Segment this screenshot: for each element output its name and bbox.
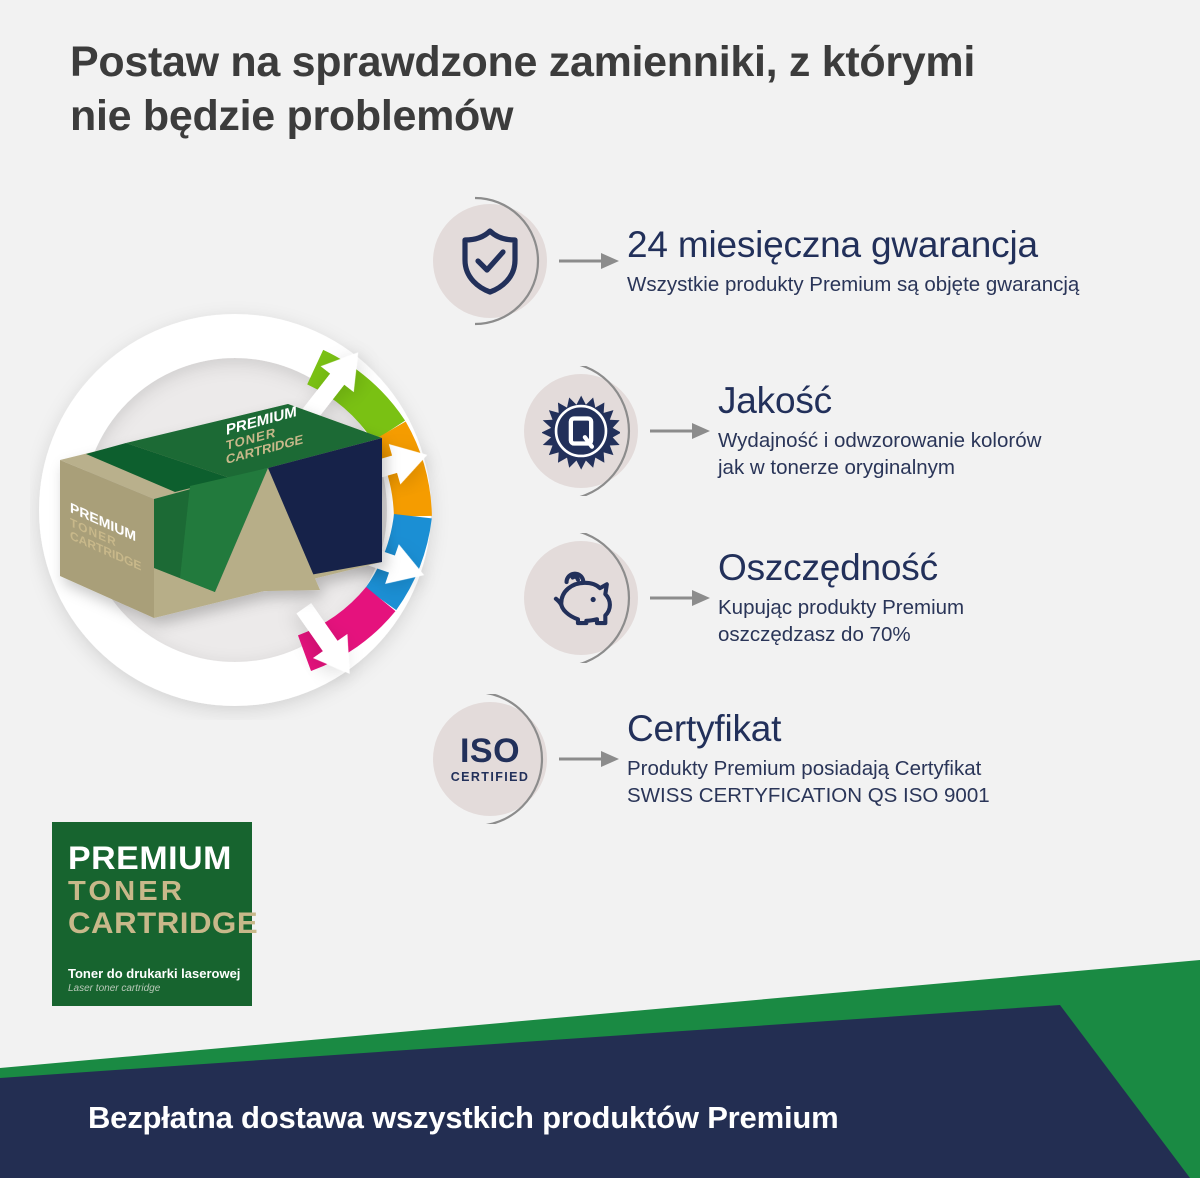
logo-toner-label: TONER bbox=[68, 875, 185, 907]
icon-disc: ISO CERTIFIED bbox=[433, 702, 547, 816]
logo-premium-label: PREMIUM bbox=[68, 840, 232, 877]
ring-svg: PREMIUM TONER CARTRIDGE PREMIUM TONER CA… bbox=[30, 300, 450, 720]
icon-disc bbox=[524, 374, 638, 488]
feature-certificate: ISO CERTIFIED Certyfikat Produkty Premiu… bbox=[425, 694, 990, 824]
right-arrow-icon bbox=[650, 586, 712, 610]
connector-arrow bbox=[650, 419, 712, 443]
feature-title: 24 miesięczna gwarancja bbox=[627, 224, 1079, 267]
feature-desc: Wszystkie produkty Premium są objęte gwa… bbox=[627, 271, 1079, 298]
footer-message: Bezpłatna dostawa wszystkich produktów P… bbox=[88, 1100, 838, 1136]
savings-icon-wrap bbox=[516, 533, 646, 663]
feature-text: Certyfikat Produkty Premium posiadają Ce… bbox=[627, 708, 990, 809]
connector-arrow bbox=[559, 747, 621, 771]
feature-text: Oszczędność Kupując produkty Premium osz… bbox=[718, 547, 964, 648]
piggy-bank-icon bbox=[543, 562, 619, 634]
feature-desc: Produkty Premium posiadają Certyfikat SW… bbox=[627, 755, 990, 810]
feature-title: Jakość bbox=[718, 380, 1041, 423]
product-ring-graphic: PREMIUM TONER CARTRIDGE PREMIUM TONER CA… bbox=[30, 300, 450, 720]
icon-disc bbox=[433, 204, 547, 318]
footer-bands bbox=[0, 960, 1200, 1178]
feature-title: Oszczędność bbox=[718, 547, 964, 590]
iso-label: ISO bbox=[451, 734, 530, 768]
iso-certified-icon: ISO CERTIFIED bbox=[451, 734, 530, 784]
page-title: Postaw na sprawdzone zamienniki, z który… bbox=[70, 36, 1130, 144]
warranty-icon-wrap bbox=[425, 196, 555, 326]
connector-arrow bbox=[650, 586, 712, 610]
icon-disc bbox=[524, 541, 638, 655]
right-arrow-icon bbox=[559, 747, 621, 771]
feature-savings: Oszczędność Kupując produkty Premium osz… bbox=[516, 533, 964, 663]
feature-desc: Wydajność i odwzorowanie kolorów jak w t… bbox=[718, 427, 1041, 482]
right-arrow-icon bbox=[559, 249, 621, 273]
quality-starburst-icon bbox=[542, 392, 620, 470]
feature-title: Certyfikat bbox=[627, 708, 990, 751]
feature-warranty: 24 miesięczna gwarancja Wszystkie produk… bbox=[425, 196, 1079, 326]
connector-arrow bbox=[559, 249, 621, 273]
feature-text: Jakość Wydajność i odwzorowanie kolorów … bbox=[718, 380, 1041, 481]
right-arrow-icon bbox=[650, 419, 712, 443]
footer-bands-svg bbox=[0, 960, 1200, 1178]
feature-text: 24 miesięczna gwarancja Wszystkie produk… bbox=[627, 224, 1079, 298]
feature-desc: Kupując produkty Premium oszczędzasz do … bbox=[718, 594, 964, 649]
quality-icon-wrap bbox=[516, 366, 646, 496]
shield-check-icon bbox=[458, 226, 522, 296]
certified-label: CERTIFIED bbox=[451, 771, 530, 784]
certificate-icon-wrap: ISO CERTIFIED bbox=[425, 694, 555, 824]
feature-quality: Jakość Wydajność i odwzorowanie kolorów … bbox=[516, 366, 1041, 496]
logo-cartridge-label: CARTRIDGE bbox=[68, 907, 258, 941]
